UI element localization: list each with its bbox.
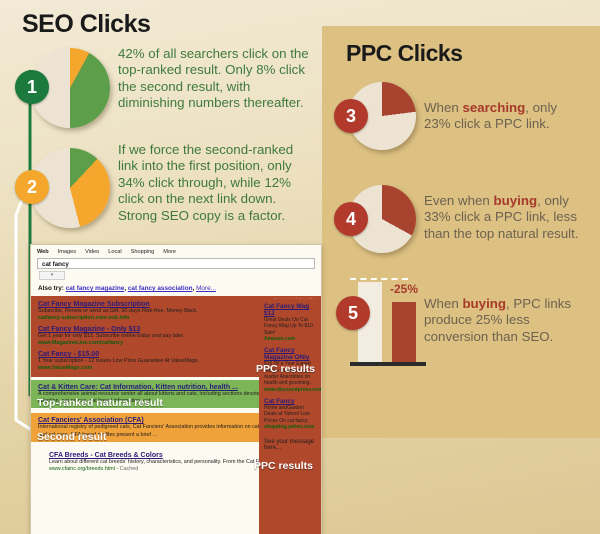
- also-try-link-more[interactable]: More...: [196, 285, 216, 292]
- rail-footer[interactable]: See your message here...: [264, 435, 317, 451]
- ad-url: shopping.yahoo.com: [264, 424, 317, 430]
- ad-title[interactable]: Cat Fancy: [264, 398, 317, 405]
- ppc-step-5-strong: buying: [462, 296, 506, 311]
- badge-step-1: 1: [15, 70, 49, 104]
- result-title-a: Cat Fanciers': [38, 417, 82, 424]
- seo-title: SEO Clicks: [22, 10, 150, 39]
- bar-label-ppc: -25%: [390, 282, 418, 296]
- cached-link[interactable]: Cached: [120, 466, 139, 472]
- seo-step-1-text: 42% of all searchers click on the top-ra…: [118, 46, 310, 112]
- result-url-text: www.cfainc.org/breeds.html: [49, 466, 115, 472]
- bar-ppc: [392, 302, 416, 362]
- also-try-link-1[interactable]: cat fancy magazine: [66, 285, 125, 292]
- badge-number: 4: [346, 209, 356, 230]
- also-try-label: Also try:: [38, 285, 64, 292]
- infographic-root: PPC Clicks SEO Clicks 1 42% of all searc…: [0, 0, 600, 534]
- serp-mockup: WebImagesVideoLocalShoppingMore cat fanc…: [30, 244, 322, 534]
- badge-number: 2: [27, 177, 37, 198]
- ad-title[interactable]: Cat Fancy Magazine ONly: [264, 347, 317, 361]
- serp-tab-web[interactable]: Web: [37, 249, 49, 255]
- ppc-results-tag-rail: PPC results: [254, 460, 313, 472]
- search-input[interactable]: cat fancy: [37, 258, 315, 269]
- badge-step-4: 4: [334, 202, 368, 236]
- ad-description: Home andGarden Deals at Yahoo! Low Price…: [264, 405, 317, 424]
- badge-number: 1: [27, 77, 37, 98]
- serp-tab-local[interactable]: Local: [108, 249, 121, 255]
- badge-step-3: 3: [334, 99, 368, 133]
- ppc-results-tag-main: PPC results: [256, 363, 315, 375]
- ppc-step-4-pre: Even when: [424, 193, 493, 208]
- serp-tab-images[interactable]: Images: [58, 249, 76, 255]
- ad-title[interactable]: Cat Fancy Mag $12: [264, 303, 317, 317]
- ppc-step-3-text: When searching, only 23% click a PPC lin…: [424, 100, 582, 133]
- result-title-b: Association (CFA): [83, 417, 143, 424]
- bar-baseline: [350, 362, 426, 366]
- second-result-tag: Second result: [37, 431, 106, 443]
- ad-description: Great Deals On Cat Fancy Mag Up To $10 S…: [264, 317, 317, 336]
- serp-tab-bar: WebImagesVideoLocalShoppingMore: [31, 245, 321, 257]
- also-try-link-2[interactable]: cat fancy association: [128, 285, 193, 292]
- chevron-down-icon[interactable]: ▾: [39, 271, 65, 280]
- serp-right-rail: Cat Fancy Mag $12 Great Deals On Cat Fan…: [259, 299, 321, 534]
- result-title-a: Cat & Kitten Care:: [38, 384, 98, 391]
- ad-url: www.discountpress.com: [264, 387, 317, 393]
- ppc-step-5-text: When buying, PPC links produce 25% less …: [424, 296, 586, 345]
- rail-ad[interactable]: Cat Fancy Mag $12 Great Deals On Cat Fan…: [264, 303, 317, 342]
- ppc-step-4-text: Even when buying, only 33% click a PPC l…: [424, 193, 586, 242]
- badge-number: 3: [346, 106, 356, 127]
- ppc-step-4-strong: buying: [493, 193, 537, 208]
- serp-tab-more[interactable]: More: [163, 249, 176, 255]
- ppc-step-3-strong: searching: [462, 100, 525, 115]
- badge-step-5: 5: [336, 296, 370, 330]
- result-title-b: Cat Information, Kitten nutrition, healt…: [100, 384, 238, 391]
- serp-tab-video[interactable]: Video: [85, 249, 99, 255]
- top-ranked-natural-result-tag: Top-ranked natural result: [37, 397, 163, 409]
- seo-step-2-text: If we force the second-ranked link into …: [118, 142, 310, 224]
- rail-ad[interactable]: Cat Fancy Home andGarden Deals at Yahoo!…: [264, 398, 317, 430]
- ppc-title: PPC Clicks: [346, 40, 462, 67]
- badge-step-2: 2: [15, 170, 49, 204]
- serp-tab-shopping[interactable]: Shopping: [131, 249, 155, 255]
- badge-number: 5: [348, 303, 358, 324]
- bar-gridline: [350, 278, 408, 280]
- ppc-step-3-pre: When: [424, 100, 462, 115]
- ad-url: Amazon.com: [264, 336, 317, 342]
- also-try-row: Also try: cat fancy magazine, cat fancy …: [31, 280, 321, 296]
